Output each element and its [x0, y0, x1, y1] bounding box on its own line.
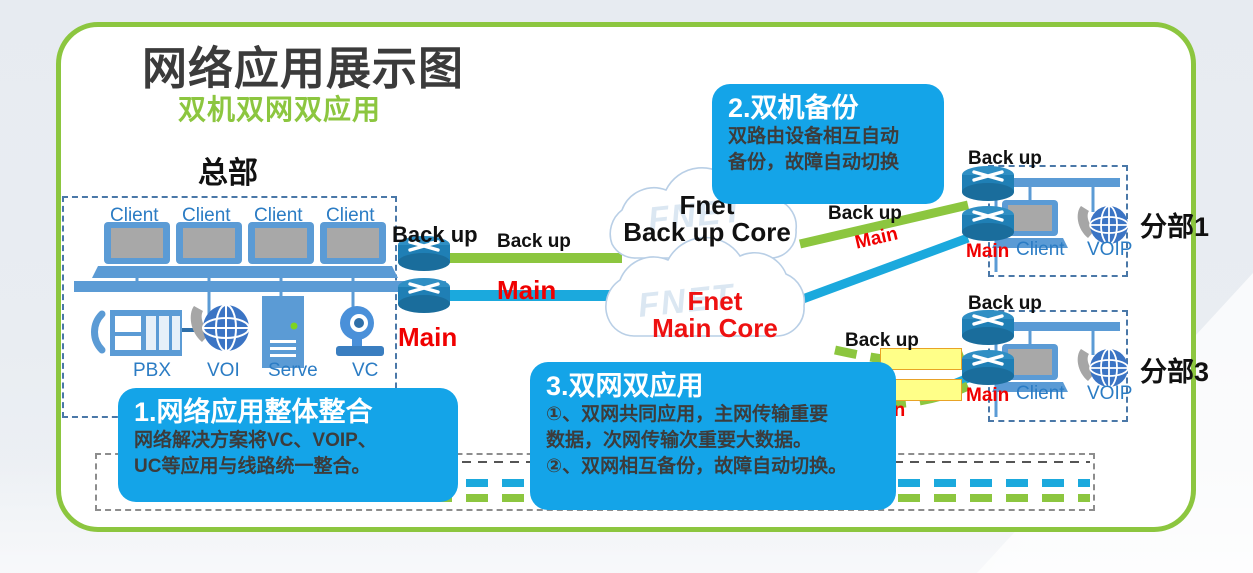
callout-2-heading: 2.双机备份	[728, 92, 930, 124]
callout-3-line-3: ②、双网相互备份，故障自动切换。	[546, 454, 882, 480]
callout-2-line-1: 双路由设备相互自动	[728, 124, 930, 150]
branch3-router-main-label: Main	[966, 385, 1009, 407]
callout-2-line-2: 备份，故障自动切换	[728, 150, 930, 176]
branch3-router-backup	[962, 310, 1014, 345]
branch3-router-main	[962, 350, 1014, 385]
callout-3-line-1: ①、双网共同应用，主网传输重要	[546, 402, 882, 428]
branch3-name: 分部3	[1140, 350, 1209, 389]
diagram-canvas: 网络应用展示图 双机双网双应用 总部	[0, 0, 1253, 573]
callout-3[interactable]: 3.双网双应用 ①、双网共同应用，主网传输重要 数据，次网传输次重要大数据。 ②…	[530, 362, 896, 510]
branch3-voip-label: VOIP	[1087, 384, 1129, 403]
branch3-client-label: Client	[1016, 384, 1058, 403]
callout-1[interactable]: 1.网络应用整体整合 网络解决方案将VC、VOIP、 UC等应用与线路统一整合。	[118, 388, 458, 502]
branch3-router-backup-label: Back up	[968, 293, 1042, 315]
callout-3-heading: 3.双网双应用	[546, 370, 882, 402]
callout-1-heading: 1.网络应用整体整合	[134, 396, 444, 428]
callout-2[interactable]: 2.双机备份 双路由设备相互自动 备份，故障自动切换	[712, 84, 944, 204]
callout-1-line-1: 网络解决方案将VC、VOIP、	[134, 428, 444, 454]
callout-3-line-2: 数据，次网传输次重要大数据。	[546, 428, 882, 454]
branch3-voip-globe-icon	[1078, 349, 1128, 387]
callout-1-line-2: UC等应用与线路统一整合。	[134, 454, 444, 480]
